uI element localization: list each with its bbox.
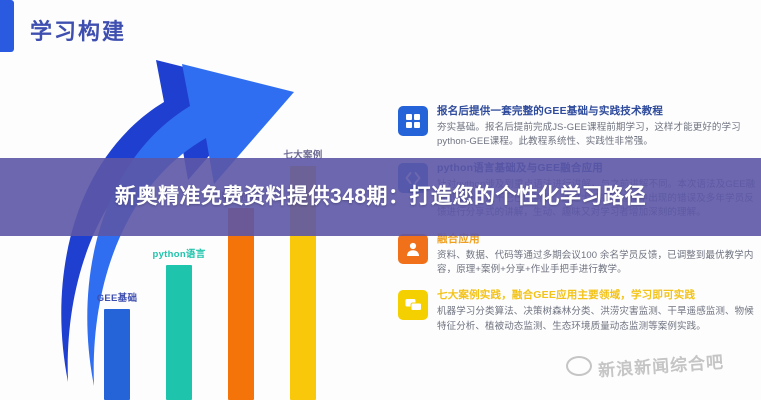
info-text-0: 夯实基础。报名后提前完成JS-GEE课程前期学习，这样才能更好的学习python…: [437, 121, 758, 150]
info-body-0: 报名后提供一套完整的GEE基础与实践技术教程 夯实基础。报名后提前完成JS-GE…: [437, 104, 758, 150]
caption-banner-text: 新奥精准免费资料提供348期：打造您的个性化学习路径: [115, 183, 646, 211]
info-section-0: 报名后提供一套完整的GEE基础与实践技术教程 夯实基础。报名后提前完成JS-GE…: [398, 104, 758, 150]
info-section-3: 七大案例实践，融合GEE应用主要领域，学习即可实践 机器学习分类算法、决策树森林…: [398, 288, 758, 334]
bar-rect-1: [166, 265, 192, 400]
title-accent-bar: [0, 0, 14, 52]
bar-rect-0: [104, 309, 130, 400]
chat-bubbles-icon: [398, 290, 428, 320]
bar-label-1: python语言: [152, 246, 205, 260]
bar-column-0: GEE基础: [104, 290, 130, 400]
info-text-2: 资料、数据、代码等通过多期会议100 余名学员反馈，已调整到最优教学内容，原理+…: [437, 249, 758, 278]
info-text-3: 机器学习分类算法、决策树森林分类、洪涝灾害监测、干旱遥感监测、物候特征分析、植被…: [437, 305, 758, 334]
info-body-2: 融合应用 资料、数据、代码等通过多期会议100 余名学员反馈，已调整到最优教学内…: [437, 232, 758, 278]
slide-canvas: 学习构建 GEE基础 python语言 融合应用 七大案例: [0, 0, 761, 400]
grid-squares-icon: [398, 106, 428, 136]
watermark-text: 新浪新闻综合吧: [597, 348, 724, 382]
bar-rect-2: [228, 208, 254, 400]
info-body-3: 七大案例实践，融合GEE应用主要领域，学习即可实践 机器学习分类算法、决策树森林…: [437, 288, 758, 334]
user-person-icon: [398, 234, 428, 264]
info-heading-3: 七大案例实践，融合GEE应用主要领域，学习即可实践: [437, 288, 758, 302]
info-heading-0: 报名后提供一套完整的GEE基础与实践技术教程: [437, 104, 758, 118]
info-section-2: 融合应用 资料、数据、代码等通过多期会议100 余名学员反馈，已调整到最优教学内…: [398, 232, 758, 278]
smiley-face-icon: [566, 356, 592, 376]
bar-column-1: python语言: [166, 246, 192, 400]
bar-label-0: GEE基础: [97, 290, 138, 304]
caption-banner: 新奥精准免费资料提供348期：打造您的个性化学习路径: [0, 158, 761, 236]
